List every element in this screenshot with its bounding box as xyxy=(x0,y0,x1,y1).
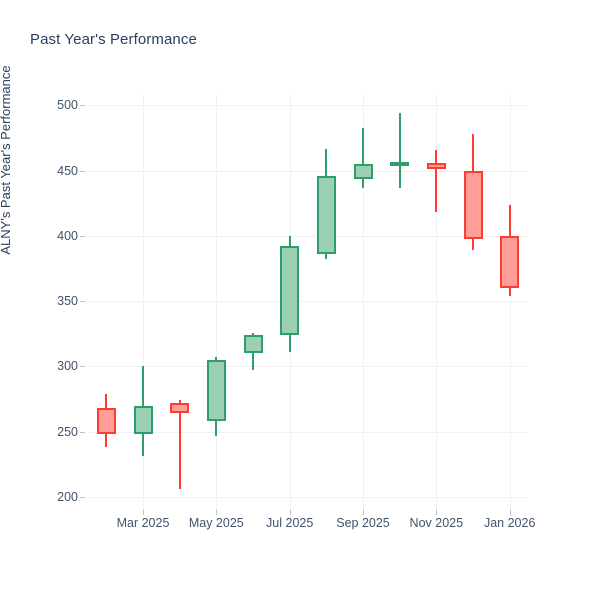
x-axis-tick-marks xyxy=(88,0,528,600)
x-axis-tick-label: May 2025 xyxy=(189,516,244,530)
y-axis-tick-mark xyxy=(80,171,85,172)
candlestick-chart: Past Year's Performance ALNY's Past Year… xyxy=(0,0,600,600)
x-axis-tick-label: Mar 2025 xyxy=(117,516,170,530)
x-axis-tick-mark xyxy=(436,510,437,515)
y-axis-tick-mark xyxy=(80,432,85,433)
x-axis-tick-mark xyxy=(510,510,511,515)
y-axis-tick-mark xyxy=(80,105,85,106)
y-axis-tick-mark xyxy=(80,301,85,302)
y-axis-tick-mark xyxy=(80,236,85,237)
x-axis-tick-mark xyxy=(290,510,291,515)
x-axis-tick-mark xyxy=(143,510,144,515)
x-axis-tick-labels: Mar 2025May 2025Jul 2025Sep 2025Nov 2025… xyxy=(88,516,528,542)
y-axis-tick-mark xyxy=(80,497,85,498)
x-axis-tick-label: Nov 2025 xyxy=(410,516,464,530)
y-axis-tick-marks xyxy=(0,95,88,510)
x-axis-tick-label: Sep 2025 xyxy=(336,516,390,530)
x-axis-tick-mark xyxy=(363,510,364,515)
x-axis-tick-mark xyxy=(216,510,217,515)
x-axis-tick-label: Jul 2025 xyxy=(266,516,313,530)
y-axis-tick-mark xyxy=(80,366,85,367)
x-axis-tick-label: Jan 2026 xyxy=(484,516,535,530)
